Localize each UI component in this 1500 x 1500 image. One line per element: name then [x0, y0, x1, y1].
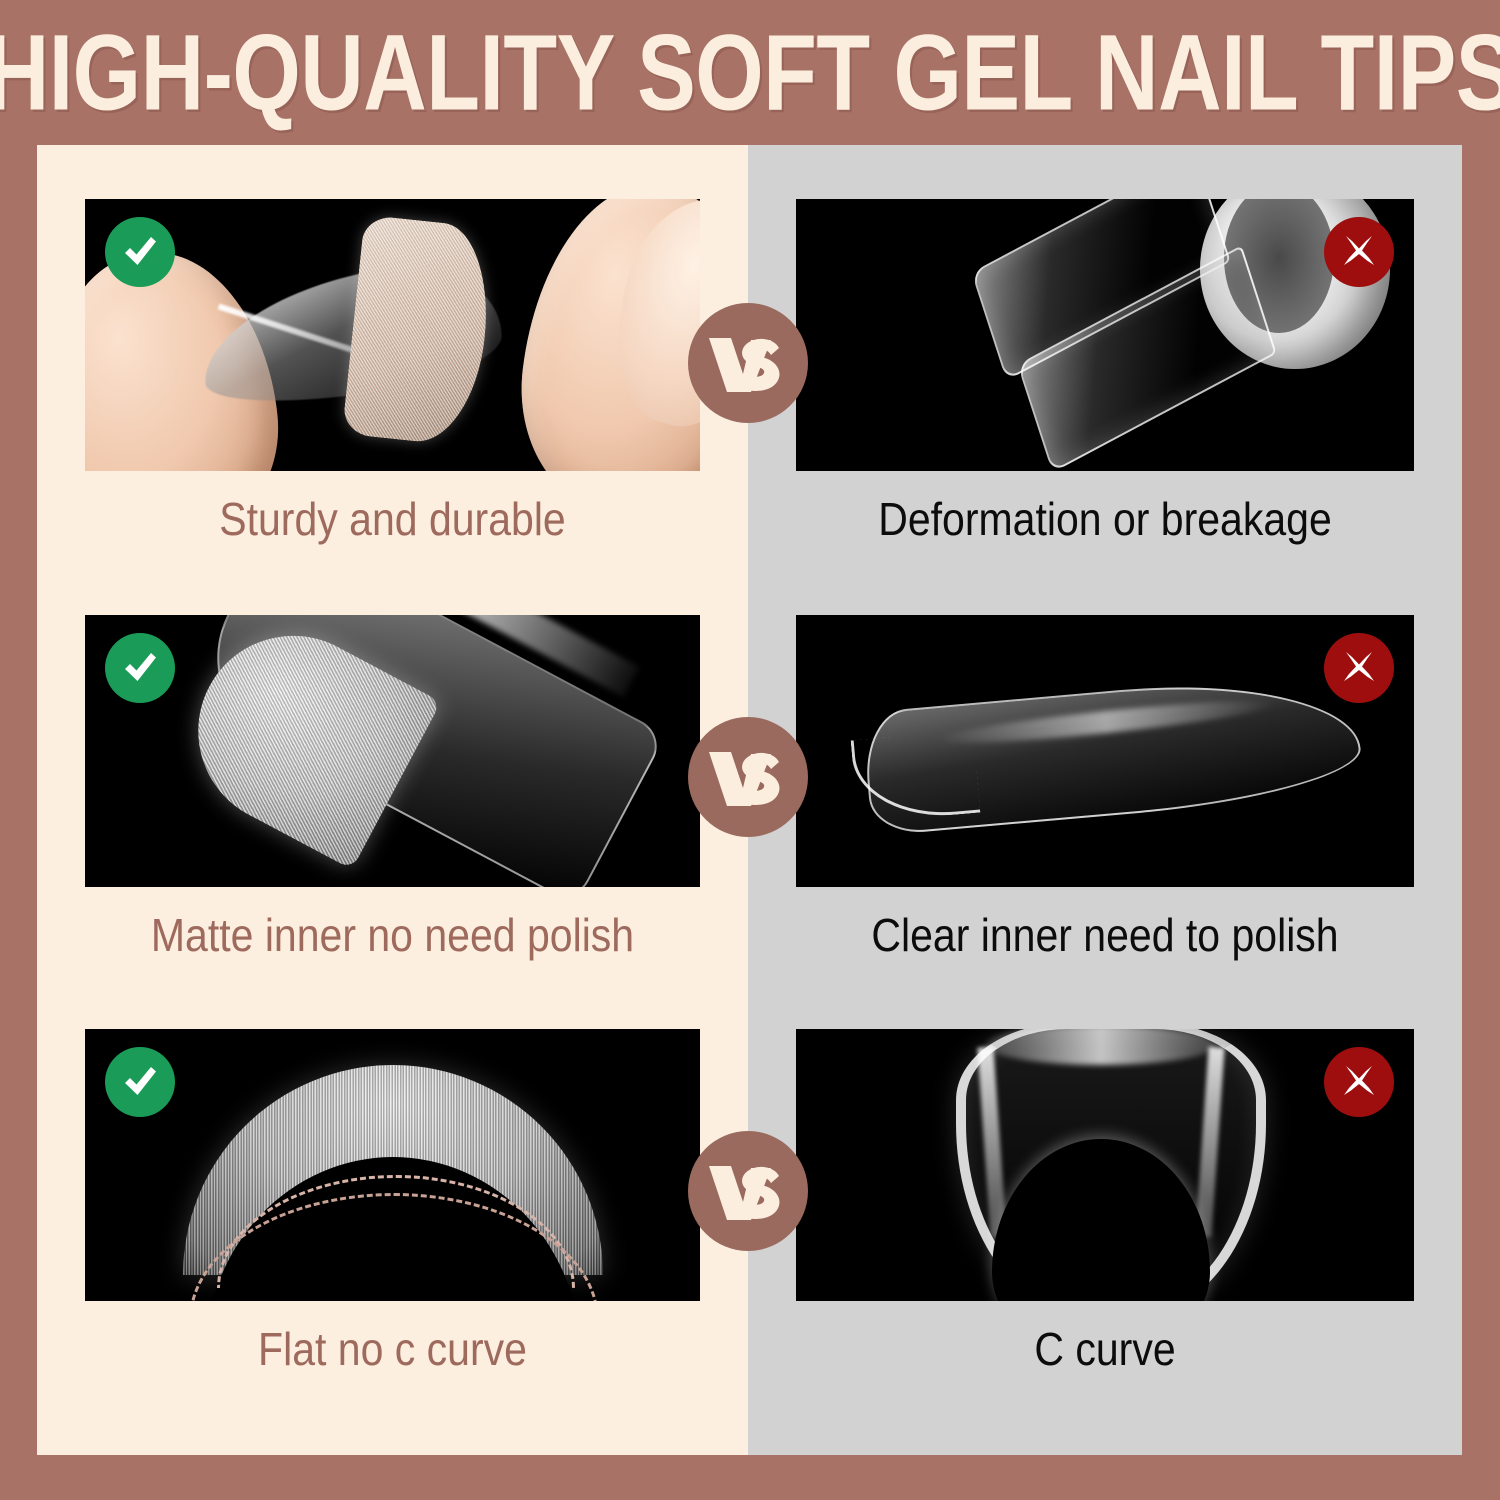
vs-badge-row-2 — [688, 717, 808, 837]
check-icon — [105, 633, 175, 703]
photo-art-c-curve — [796, 1029, 1414, 1301]
fingernail-shape — [592, 199, 700, 444]
caption-good-2: Matte inner no need polish — [85, 887, 700, 960]
cross-icon — [1324, 633, 1394, 703]
caption-bad-1: Deformation or breakage — [796, 471, 1414, 544]
caption-bad-2: Clear inner need to polish — [796, 887, 1414, 960]
page-title: HIGH-QUALITY SOFT GEL NAIL TIPS — [0, 19, 1500, 127]
gel-tip-matte-surface — [342, 215, 496, 448]
clear-nail-tip-cuticle-hook — [851, 730, 981, 823]
photo-art-matte-tip — [85, 615, 700, 887]
caption-bad-3: C curve — [796, 1301, 1414, 1374]
panel-good: Sturdy and durable Matte inner no n — [37, 145, 748, 1455]
comparison-panels: Sturdy and durable Matte inner no n — [37, 145, 1462, 1455]
photo-art-bending-tip — [85, 199, 700, 471]
photo-art-flat-arch — [85, 1029, 700, 1301]
photo-c-curve — [796, 1029, 1414, 1301]
row-good-1: Sturdy and durable — [37, 145, 748, 559]
photo-clear-inner — [796, 615, 1414, 887]
title-bar: HIGH-QUALITY SOFT GEL NAIL TIPS — [0, 0, 1500, 145]
panel-bad: Deformation or breakage Clear inner — [748, 145, 1462, 1455]
caption-good-3: Flat no c curve — [85, 1301, 700, 1374]
product-comparison-infographic: HIGH-QUALITY SOFT GEL NAIL TIPS — [0, 0, 1500, 1500]
check-icon — [105, 1047, 175, 1117]
row-bad-1: Deformation or breakage — [748, 145, 1462, 559]
row-bad-3: C curve — [748, 973, 1462, 1387]
finger-right-shape — [507, 199, 700, 471]
caption-good-1: Sturdy and durable — [85, 471, 700, 544]
photo-matte-inner — [85, 615, 700, 887]
check-icon — [105, 217, 175, 287]
row-good-2: Matte inner no need polish — [37, 559, 748, 973]
photo-deformation-or-breakage — [796, 199, 1414, 471]
cross-icon — [1324, 1047, 1394, 1117]
row-good-3: Flat no c curve — [37, 973, 748, 1387]
photo-art-broken-tip — [796, 199, 1414, 471]
cross-icon — [1324, 217, 1394, 287]
vs-badge-row-1 — [688, 303, 808, 423]
photo-flat-no-c-curve — [85, 1029, 700, 1301]
vs-badge-row-3 — [688, 1131, 808, 1251]
row-bad-2: Clear inner need to polish — [748, 559, 1462, 973]
photo-sturdy-and-durable — [85, 199, 700, 471]
photo-art-clear-tip — [796, 615, 1414, 887]
